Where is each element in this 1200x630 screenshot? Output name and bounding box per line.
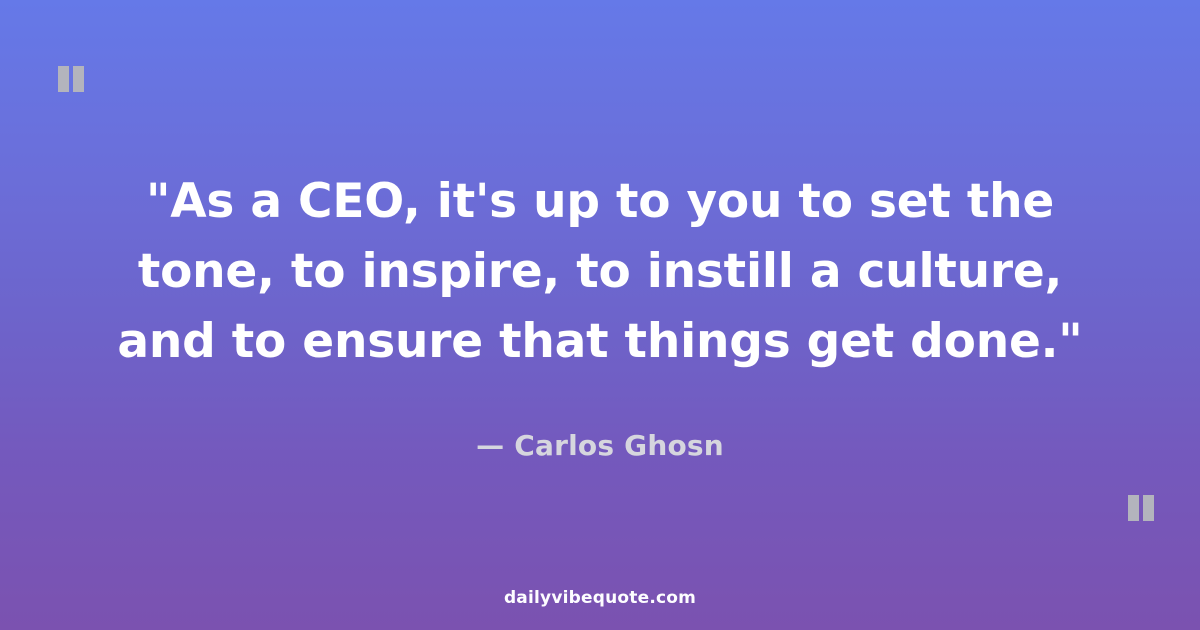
quote-line-3: and to ensure that things get done." xyxy=(92,307,1108,377)
quote-content: "As a CEO, it's up to you to set the ton… xyxy=(0,0,1200,630)
quote-line-2: tone, to inspire, to instill a culture, xyxy=(92,237,1108,307)
footer-site-name: dailyvibequote.com xyxy=(504,588,696,608)
quote-attribution: — Carlos Ghosn xyxy=(476,429,724,463)
footer: dailyvibequote.com xyxy=(0,588,1200,608)
quote-text: "As a CEO, it's up to you to set the ton… xyxy=(92,167,1108,377)
quote-line-1: "As a CEO, it's up to you to set the xyxy=(92,167,1108,237)
quote-card: "As a CEO, it's up to you to set the ton… xyxy=(0,0,1200,630)
